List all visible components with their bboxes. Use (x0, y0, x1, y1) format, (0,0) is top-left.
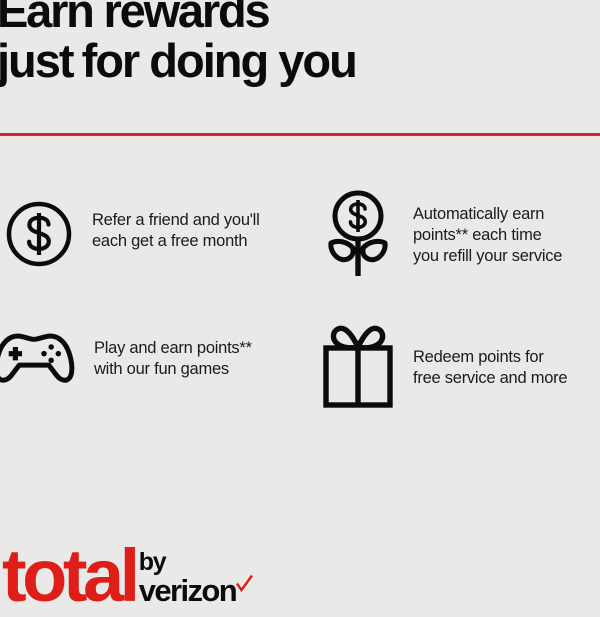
logo-verizon-text: verizon (139, 576, 236, 605)
logo-verizon-row: verizon (139, 574, 254, 605)
page-title: Earn rewards justfor doing you (0, 0, 600, 86)
logo-total-wordmark: total (2, 545, 136, 607)
feature-line: each get a free month (92, 231, 260, 252)
feature-refer-a-friend-label: Refer a friend and you'll each get a fre… (92, 210, 260, 252)
feature-line: Redeem points for (413, 347, 567, 368)
feature-line: with our fun games (94, 359, 252, 380)
feature-line: Refer a friend and you'll (92, 210, 260, 231)
feature-refer-a-friend: Refer a friend and you'll each get a fre… (2, 198, 260, 270)
feature-line: you refill your service (413, 246, 562, 267)
logo-by-verizon-lockup: by verizon (139, 551, 254, 607)
feature-redeem-points: Redeem points for free service and more (318, 321, 567, 411)
red-divider (0, 133, 600, 136)
feature-redeem-points-label: Redeem points for free service and more (413, 347, 567, 389)
headline-line-1: Earn rewards (0, 0, 600, 36)
logo-by-text: by (139, 551, 254, 574)
feature-play-games-label: Play and earn points** with our fun game… (94, 338, 252, 380)
feature-line: Automatically earn (413, 204, 562, 225)
gift-box-icon (318, 321, 398, 411)
headline-line-2: justfor doing you (0, 36, 600, 86)
feature-automatic-earn: Automatically earn points** each time yo… (318, 188, 562, 280)
feature-line: Play and earn points** (94, 338, 252, 359)
feature-automatic-earn-label: Automatically earn points** each time yo… (413, 204, 562, 267)
headline-line-2-part-2: for doing you (82, 34, 356, 87)
feature-line: free service and more (413, 368, 567, 389)
features-grid: Refer a friend and you'll each get a fre… (0, 176, 600, 436)
total-by-verizon-logo: total by verizon (2, 545, 254, 607)
dollar-coin-icon (2, 198, 76, 270)
verizon-check-icon (234, 574, 254, 599)
headline-line-2-part-1: just (0, 34, 73, 87)
game-controller-icon (0, 326, 76, 388)
feature-line: points** each time (413, 225, 562, 246)
feature-play-games: Play and earn points** with our fun game… (0, 326, 252, 388)
money-plant-icon (318, 188, 398, 280)
